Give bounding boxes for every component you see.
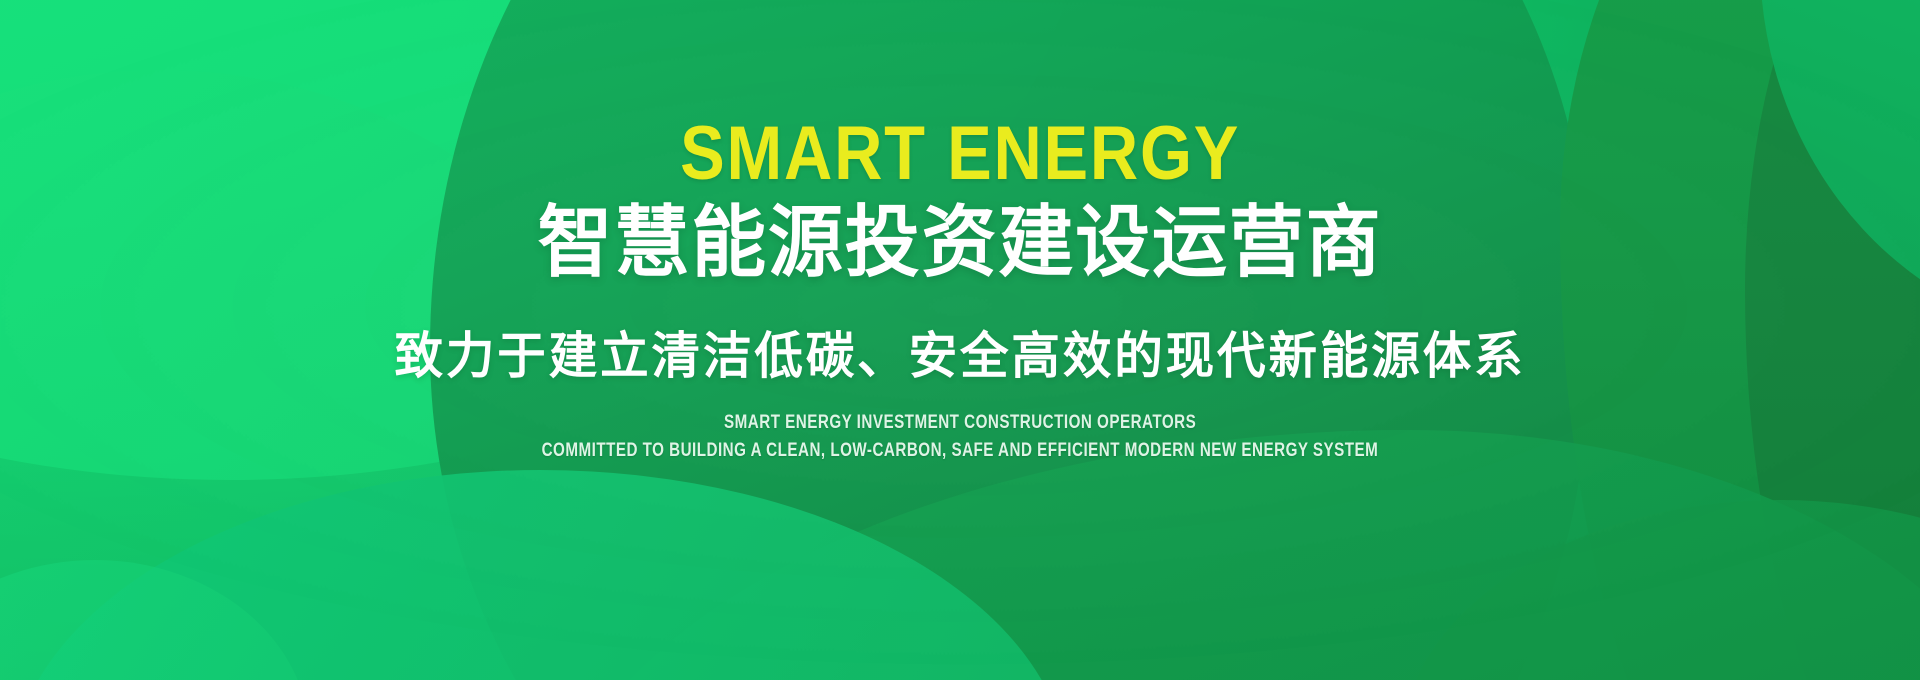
hero-banner: SMART ENERGY 智慧能源投资建设运营商 致力于建立清洁低碳、安全高效的…: [0, 0, 1920, 680]
subtitle-chinese: 致力于建立清洁低碳、安全高效的现代新能源体系: [394, 326, 1525, 386]
tagline-english-line-1: SMART ENERGY INVESTMENT CONSTRUCTION OPE…: [724, 412, 1196, 434]
banner-content: SMART ENERGY 智慧能源投资建设运营商 致力于建立清洁低碳、安全高效的…: [0, 0, 1920, 680]
headline-english: SMART ENERGY: [680, 118, 1240, 190]
headline-chinese: 智慧能源投资建设运营商: [538, 202, 1383, 284]
tagline-english-line-2: COMMITTED TO BUILDING A CLEAN, LOW-CARBO…: [542, 440, 1379, 462]
tagline-group: SMART ENERGY INVESTMENT CONSTRUCTION OPE…: [437, 412, 1483, 462]
